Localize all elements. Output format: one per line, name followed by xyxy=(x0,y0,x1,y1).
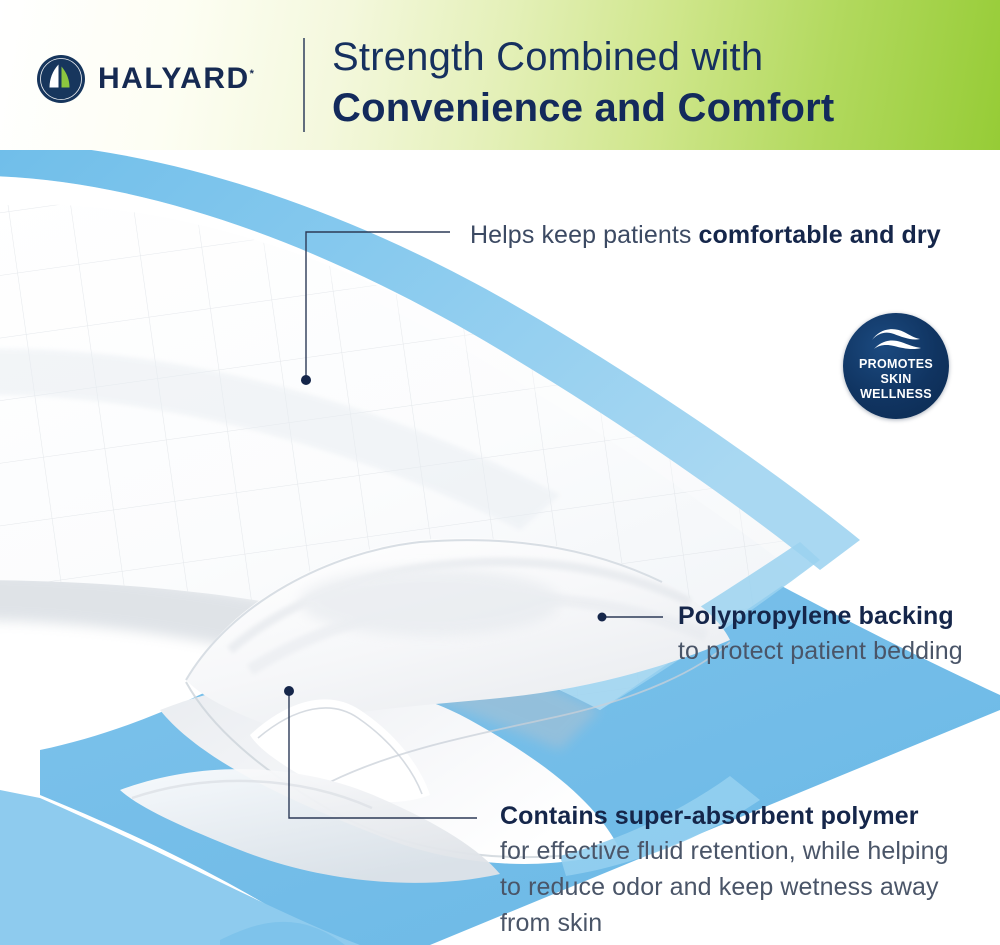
badge-text: PROMOTES SKIN WELLNESS xyxy=(859,357,933,402)
badge-line-1: PROMOTES xyxy=(859,357,933,372)
halyard-logo: HALYARD* xyxy=(36,54,254,104)
header-divider xyxy=(303,38,305,132)
halyard-leaf-mark-icon xyxy=(36,54,86,104)
badge-line-3: WELLNESS xyxy=(859,387,933,402)
callout-1-heading: Helps keep patients comfortable and dry xyxy=(470,219,941,252)
promotes-skin-wellness-badge: PROMOTES SKIN WELLNESS xyxy=(843,313,949,419)
callout-comfortable-dry: Helps keep patients comfortable and dry xyxy=(470,219,941,252)
page-title: Strength Combined with Convenience and C… xyxy=(332,32,972,134)
title-line-1: Strength Combined with xyxy=(332,32,972,82)
title-line-2: Convenience and Comfort xyxy=(332,82,972,134)
logo-word-text: HALYARD xyxy=(98,62,250,95)
callout-2-body: to protect patient bedding xyxy=(678,633,978,669)
callout-super-absorbent-polymer: Contains super-absorbent polymer for eff… xyxy=(500,800,950,941)
callout-3-body: for effective fluid retention, while hel… xyxy=(500,833,950,941)
halyard-wordmark: HALYARD* xyxy=(98,64,254,94)
callout-3-heading: Contains super-absorbent polymer xyxy=(500,800,950,833)
callout-1-regular-text: Helps keep patients xyxy=(470,221,699,249)
callout-polypropylene-backing: Polypropylene backing to protect patient… xyxy=(678,600,978,669)
callout-1-bold-text: comfortable and dry xyxy=(699,221,941,249)
product-feature-graphic: HALYARD* Strength Combined with Convenie… xyxy=(0,0,1000,945)
badge-line-2: SKIN xyxy=(859,372,933,387)
header-banner: HALYARD* Strength Combined with Convenie… xyxy=(0,0,1000,153)
wave-swoosh-icon xyxy=(868,327,924,353)
callout-2-heading: Polypropylene backing xyxy=(678,600,978,633)
logo-trademark: * xyxy=(250,68,254,80)
